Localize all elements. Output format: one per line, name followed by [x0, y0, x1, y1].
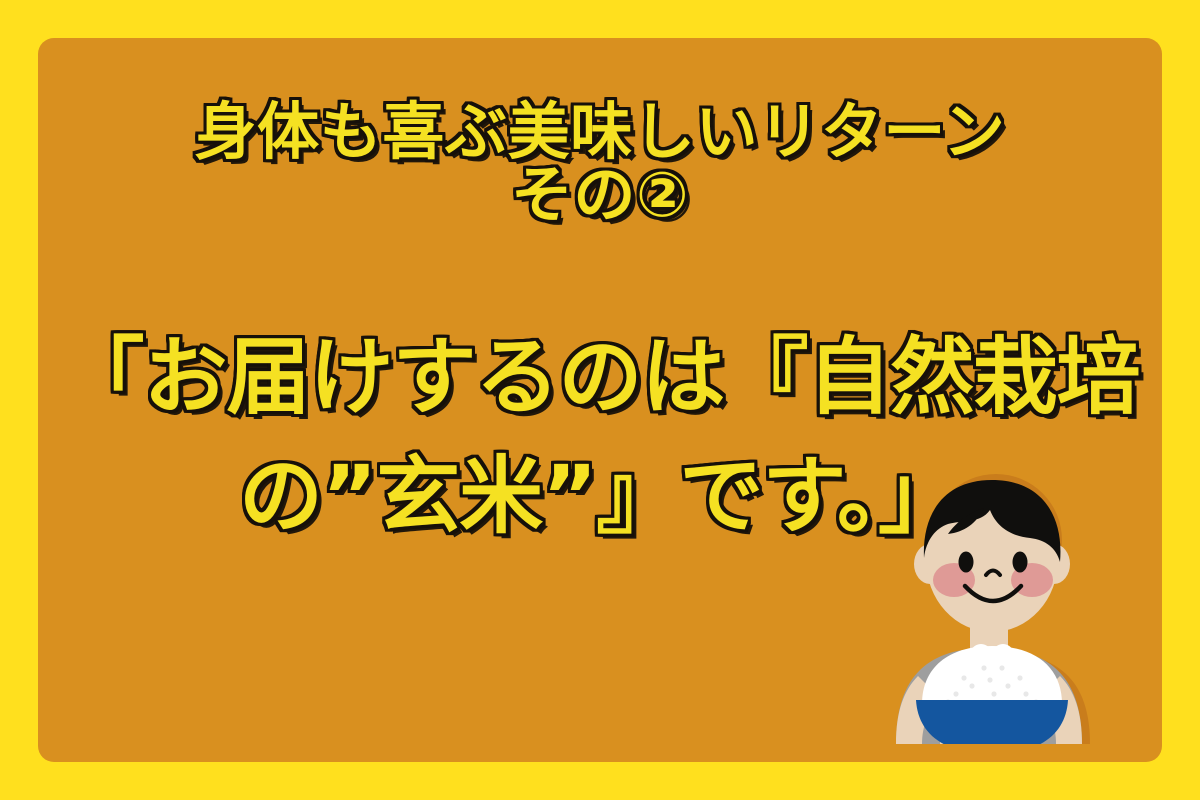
heading-line-1: 身体も喜ぶ美味しいリターン	[38, 100, 1162, 163]
boy-holding-rice-bowl-illustration	[844, 462, 1144, 762]
heading-line-2: その②	[38, 163, 1162, 226]
rice-bowl	[916, 700, 1068, 760]
head	[924, 480, 1061, 632]
rice	[922, 644, 1062, 705]
heading-block: 身体も喜ぶ美味しいリターン その②	[38, 100, 1162, 226]
content-panel: 身体も喜ぶ美味しいリターン その② 「お届けするのは『自然栽培 の”玄米”』です…	[38, 38, 1162, 762]
slide-canvas: 身体も喜ぶ美味しいリターン その② 「お届けするのは『自然栽培 の”玄米”』です…	[0, 0, 1200, 800]
quote-line-1: 「お届けするのは『自然栽培	[38, 318, 1162, 437]
